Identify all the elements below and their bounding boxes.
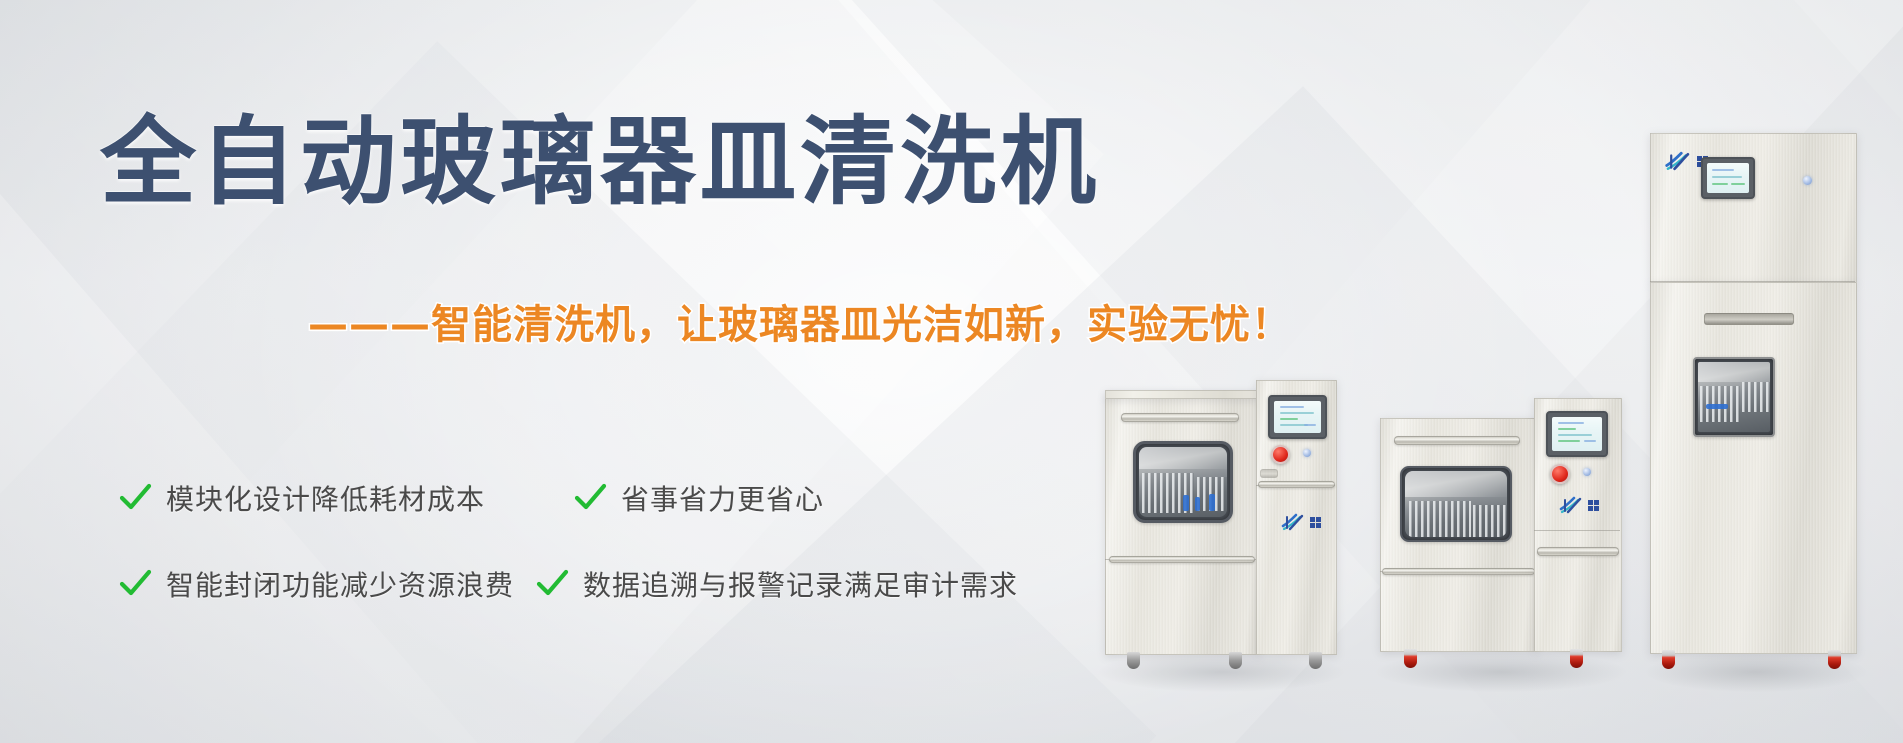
feature-label: 模块化设计降低耗材成本 — [166, 478, 485, 518]
caster-wheel — [1662, 650, 1675, 669]
screen-ui-line — [1584, 440, 1596, 442]
logo-text-blocks — [1588, 500, 1599, 511]
screen-ui-line — [1280, 412, 1314, 414]
feature-label: 智能封闭功能减少资源浪费 — [166, 564, 514, 604]
logo-text-blocks — [1310, 517, 1321, 528]
caster-wheel — [1309, 652, 1322, 669]
product-image-freestanding-washer — [1380, 268, 1620, 658]
screen-ui-line — [1304, 424, 1316, 426]
feature-list: 模块化设计降低耗材成本 省事省力更省心 智能封闭功能减少资源浪费 — [118, 478, 1018, 650]
chamber-window — [1400, 466, 1512, 542]
window-glass — [1139, 447, 1227, 517]
check-icon — [118, 567, 152, 601]
label-plate — [1260, 469, 1278, 478]
door-handle-slot[interactable] — [1704, 313, 1794, 325]
brushed-texture — [1106, 396, 1258, 654]
product-image-tall-column-washer — [1650, 133, 1860, 658]
product-banner: 全自动玻璃器皿清洗机 ———智能清洗机，让玻璃器皿光洁如新，实验无忧！ 模块化设… — [0, 0, 1903, 743]
door-handle[interactable] — [1121, 413, 1239, 422]
logo-mark — [1664, 151, 1694, 171]
caster-wheel — [1828, 650, 1841, 669]
blue-nozzle — [1183, 495, 1189, 511]
screen-ui-line — [1712, 169, 1734, 171]
check-icon — [118, 481, 152, 515]
screen-display — [1552, 417, 1602, 451]
logo-mark — [1559, 496, 1585, 514]
window-glare — [1405, 471, 1507, 497]
door-handle[interactable] — [1394, 436, 1520, 445]
caster-wheel — [1404, 649, 1417, 668]
page-title: 全自动玻璃器皿清洗机 — [100, 112, 1100, 213]
screen-ui-line — [1558, 422, 1584, 424]
caster-wheel — [1229, 652, 1242, 669]
feature-row: 智能封闭功能减少资源浪费 数据追溯与报警记录满足审计需求 — [118, 564, 1018, 604]
screen-ui-line — [1712, 176, 1742, 178]
blue-nozzle — [1209, 494, 1215, 511]
list-item: 省事省力更省心 — [573, 478, 824, 518]
screen-ui-line — [1558, 428, 1576, 430]
glassware-rack — [1409, 501, 1471, 537]
screen-ui-line — [1558, 434, 1592, 436]
product-images — [1105, 130, 1903, 743]
caster-wheel — [1127, 652, 1140, 669]
brand-logo — [1281, 513, 1321, 531]
service-door-handle[interactable] — [1537, 547, 1619, 556]
window-glare — [1139, 447, 1227, 469]
list-item: 数据追溯与报警记录满足审计需求 — [535, 564, 1018, 604]
screen-ui-line — [1731, 183, 1745, 185]
brushed-texture — [1651, 283, 1856, 653]
touchscreen-panel[interactable] — [1268, 395, 1327, 439]
brand-logo — [1559, 496, 1599, 514]
glassware-rack — [1742, 382, 1770, 412]
lower-door-handle[interactable] — [1382, 568, 1535, 575]
screen-ui-line — [1558, 440, 1580, 442]
emergency-stop-button[interactable] — [1271, 445, 1290, 464]
touchscreen-panel[interactable] — [1546, 411, 1608, 457]
check-icon — [573, 481, 607, 515]
screen-ui-line — [1280, 406, 1304, 408]
touchscreen-panel[interactable] — [1701, 157, 1755, 199]
panel-seam — [1534, 530, 1620, 531]
screen-display — [1707, 163, 1749, 193]
screen-ui-line — [1712, 183, 1728, 185]
blue-nozzle — [1706, 404, 1728, 409]
chamber-window — [1133, 441, 1233, 523]
status-indicator-light — [1803, 176, 1812, 185]
glassware-rack — [1473, 505, 1507, 537]
status-indicator-light — [1583, 468, 1591, 476]
status-indicator-light — [1303, 449, 1311, 457]
chamber-window — [1693, 357, 1775, 437]
window-glass — [1405, 471, 1507, 537]
lower-door-handle[interactable] — [1109, 556, 1255, 563]
window-glass — [1698, 362, 1770, 432]
caster-wheel — [1570, 649, 1583, 668]
product-image-undercounter-washer — [1105, 373, 1335, 658]
list-item: 智能封闭功能减少资源浪费 — [118, 564, 535, 604]
machine-lower-body — [1650, 282, 1857, 654]
screen-display — [1274, 401, 1321, 433]
emergency-stop-button[interactable] — [1550, 464, 1570, 484]
check-icon — [535, 567, 569, 601]
window-glare — [1698, 362, 1770, 382]
blue-nozzle — [1195, 497, 1200, 511]
feature-label: 省事省力更省心 — [621, 478, 824, 518]
logo-mark — [1281, 513, 1307, 531]
machine-top-lip — [1105, 390, 1259, 399]
service-door-handle[interactable] — [1258, 481, 1335, 488]
feature-label: 数据追溯与报警记录满足审计需求 — [583, 564, 1018, 604]
screen-ui-line — [1280, 418, 1298, 420]
machine-body — [1105, 395, 1259, 655]
feature-row: 模块化设计降低耗材成本 省事省力更省心 — [118, 478, 1018, 518]
list-item: 模块化设计降低耗材成本 — [118, 478, 573, 518]
